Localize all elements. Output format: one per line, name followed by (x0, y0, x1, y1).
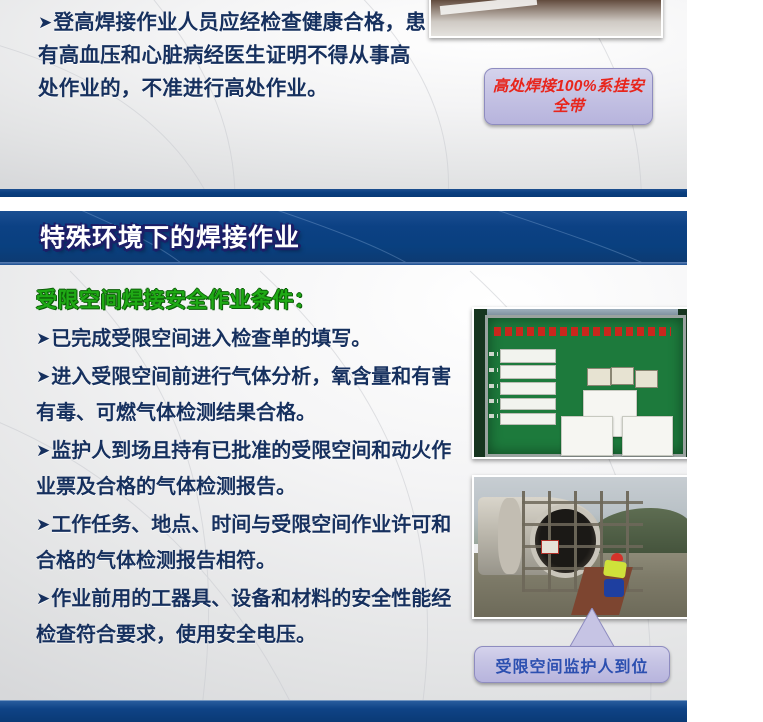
list-item: ➤进入受限空间前进行气体分析，氧含量和有害有毒、可燃气体检测结果合格。 (36, 359, 466, 431)
bullet-arrow-icon: ➤ (38, 13, 52, 32)
slide2-bullet-list: ➤已完成受限空间进入检查单的填写。 ➤进入受限空间前进行气体分析，氧含量和有害有… (36, 321, 466, 655)
slide-high-work-welding: ➤登高焊接作业人员应经检查健康合格，患有高血压和心脏病经医生证明不得从事高处作业… (0, 0, 687, 197)
slide1-bullet-text: ➤登高焊接作业人员应经检查健康合格，患有高血压和心脏病经医生证明不得从事高处作业… (38, 6, 428, 105)
bullet-arrow-icon: ➤ (36, 367, 50, 386)
slide1-footer-bar (0, 189, 687, 197)
slide2-title-underline (0, 262, 687, 265)
presentation-page: ➤登高焊接作业人员应经检查健康合格，患有高血压和心脏病经医生证明不得从事高处作业… (0, 0, 763, 722)
list-item: ➤监护人到场且持有已批准的受限空间和动火作业票及合格的气体检测报告。 (36, 433, 466, 505)
slide2-title-bar: 特殊环境下的焊接作业 (0, 211, 687, 262)
slide2-footer-bar (0, 700, 687, 722)
slide2-callout: 受限空间监护人到位 (474, 646, 670, 683)
slide2-title: 特殊环境下的焊接作业 (40, 218, 300, 254)
bullet-arrow-icon: ➤ (36, 441, 50, 460)
bullet-arrow-icon: ➤ (36, 515, 50, 534)
slide1-callout-text: 高处焊接100%系挂安全带 (485, 77, 652, 117)
confined-space-permit-board-photo (472, 307, 687, 459)
slide1-callout: 高处焊接100%系挂安全带 (484, 68, 653, 125)
slide2-section-heading: 受限空间焊接安全作业条件： (36, 284, 316, 314)
list-item: ➤工作任务、地点、时间与受限空间作业许可和合格的气体检测报告相符。 (36, 507, 466, 579)
list-item: ➤已完成受限空间进入检查单的填写。 (36, 321, 466, 357)
bullet-arrow-icon: ➤ (36, 329, 50, 348)
slide-special-environment-welding: 特殊环境下的焊接作业 受限空间焊接安全作业条件： ➤已完成受限空间进入检查单的填… (0, 211, 687, 722)
vessel-confined-space-photo (472, 475, 687, 619)
list-item: ➤作业前用的工器具、设备和材料的安全性能经检查符合要求，使用安全电压。 (36, 581, 466, 653)
bullet-arrow-icon: ➤ (36, 589, 50, 608)
slide1-photo (429, 0, 663, 38)
slide2-callout-text: 受限空间监护人到位 (495, 653, 648, 677)
